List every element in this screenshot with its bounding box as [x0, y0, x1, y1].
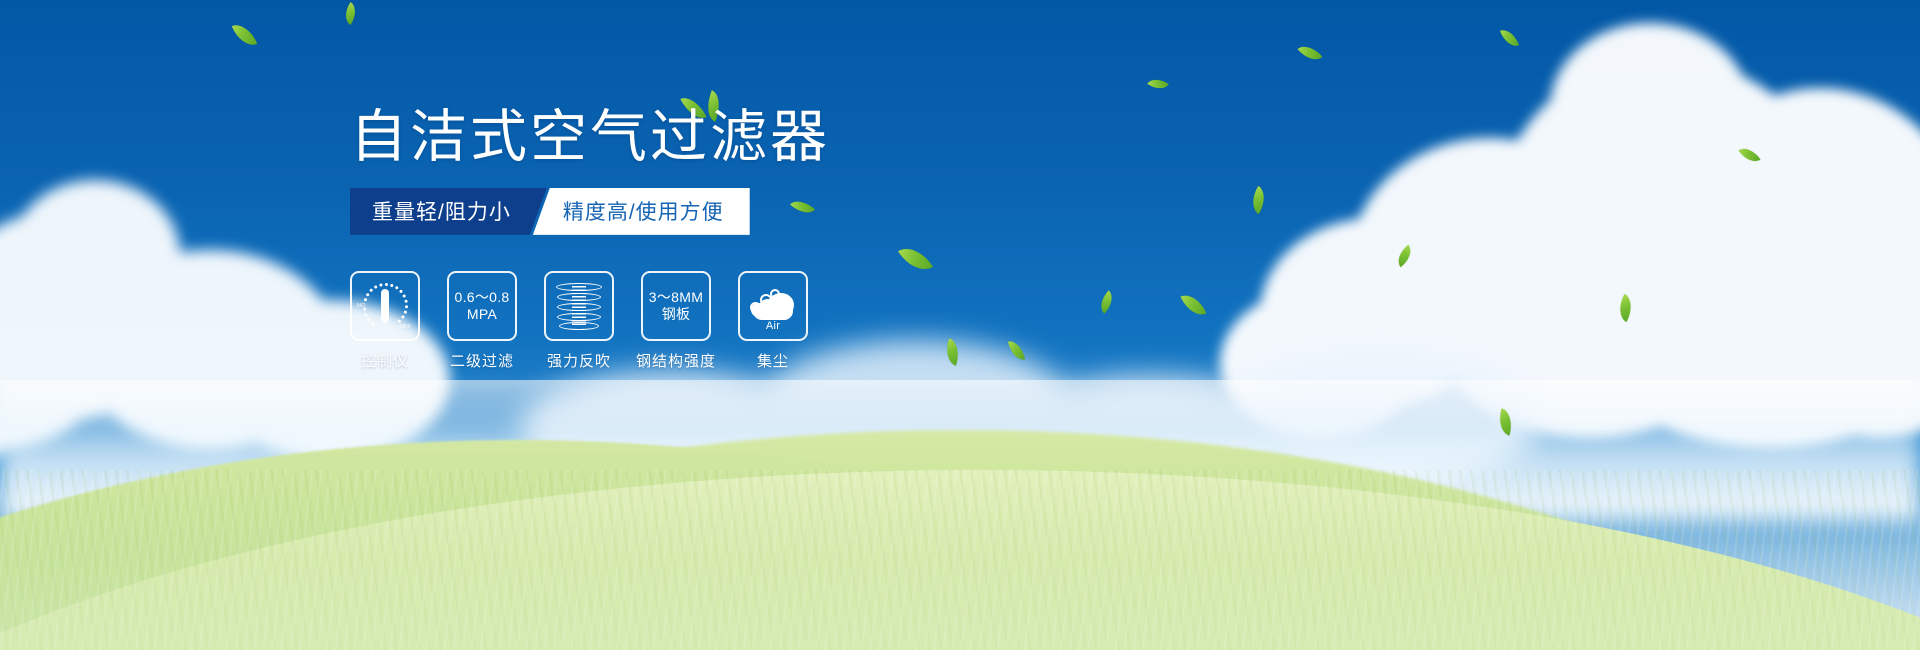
feature-icon-box [544, 271, 614, 341]
pressure-text-icon: 0.6～0.8 MPA [454, 289, 509, 323]
control-dial-icon: NO OFF [359, 280, 411, 332]
banner-content: 自洁式空气过滤器 重量轻/阻力小 精度高/使用方便 [350, 106, 1110, 371]
feature-icon-box: 0.6～0.8 MPA [447, 271, 517, 341]
feature-icon-box: Air [738, 271, 808, 341]
grass-field [0, 380, 1920, 650]
steel-thickness: 3～8MM [649, 289, 703, 306]
steel-plate-text-icon: 3～8MM 钢板 [649, 289, 703, 323]
tagline-secondary: 精度高/使用方便 [533, 188, 750, 235]
feature-label: 钢结构强度 [636, 350, 716, 371]
feature-label: 控制仪 [361, 350, 409, 371]
feature-label: 集尘 [757, 350, 789, 371]
filter-stack-icon [554, 281, 604, 331]
feature-label: 强力反吹 [547, 350, 611, 371]
hero-banner: 自洁式空气过滤器 重量轻/阻力小 精度高/使用方便 [0, 0, 1920, 650]
air-text: Air [746, 320, 800, 332]
grass-top-glow [0, 380, 1920, 430]
grass-sheen [0, 450, 1920, 650]
page-title: 自洁式空气过滤器 [350, 106, 1110, 170]
dial-label-no: NO [357, 303, 366, 309]
feature-item-pressure: 0.6～0.8 MPA 二级过滤 [447, 271, 517, 371]
pressure-value: 0.6～0.8 [454, 289, 509, 306]
dial-needle [381, 289, 389, 323]
feature-item-controller: NO OFF 控制仪 [350, 271, 420, 371]
feature-icon-box: NO OFF [350, 271, 420, 341]
feature-item-backblow: 强力反吹 [544, 271, 614, 371]
feature-list: NO OFF 控制仪 0.6～0.8 MPA 二级过滤 [350, 271, 1110, 371]
tagline-group: 重量轻/阻力小 精度高/使用方便 [350, 188, 1110, 235]
air-cloud-icon: Air [746, 281, 800, 331]
dial-label-off: OFF [399, 324, 411, 330]
tagline-primary: 重量轻/阻力小 [350, 188, 547, 235]
feature-item-steel: 3～8MM 钢板 钢结构强度 [641, 271, 711, 371]
steel-material: 钢板 [649, 306, 703, 323]
feature-item-dust: Air 集尘 [738, 271, 808, 371]
pressure-unit: MPA [454, 306, 509, 323]
feature-icon-box: 3～8MM 钢板 [641, 271, 711, 341]
feature-label: 二级过滤 [450, 350, 514, 371]
